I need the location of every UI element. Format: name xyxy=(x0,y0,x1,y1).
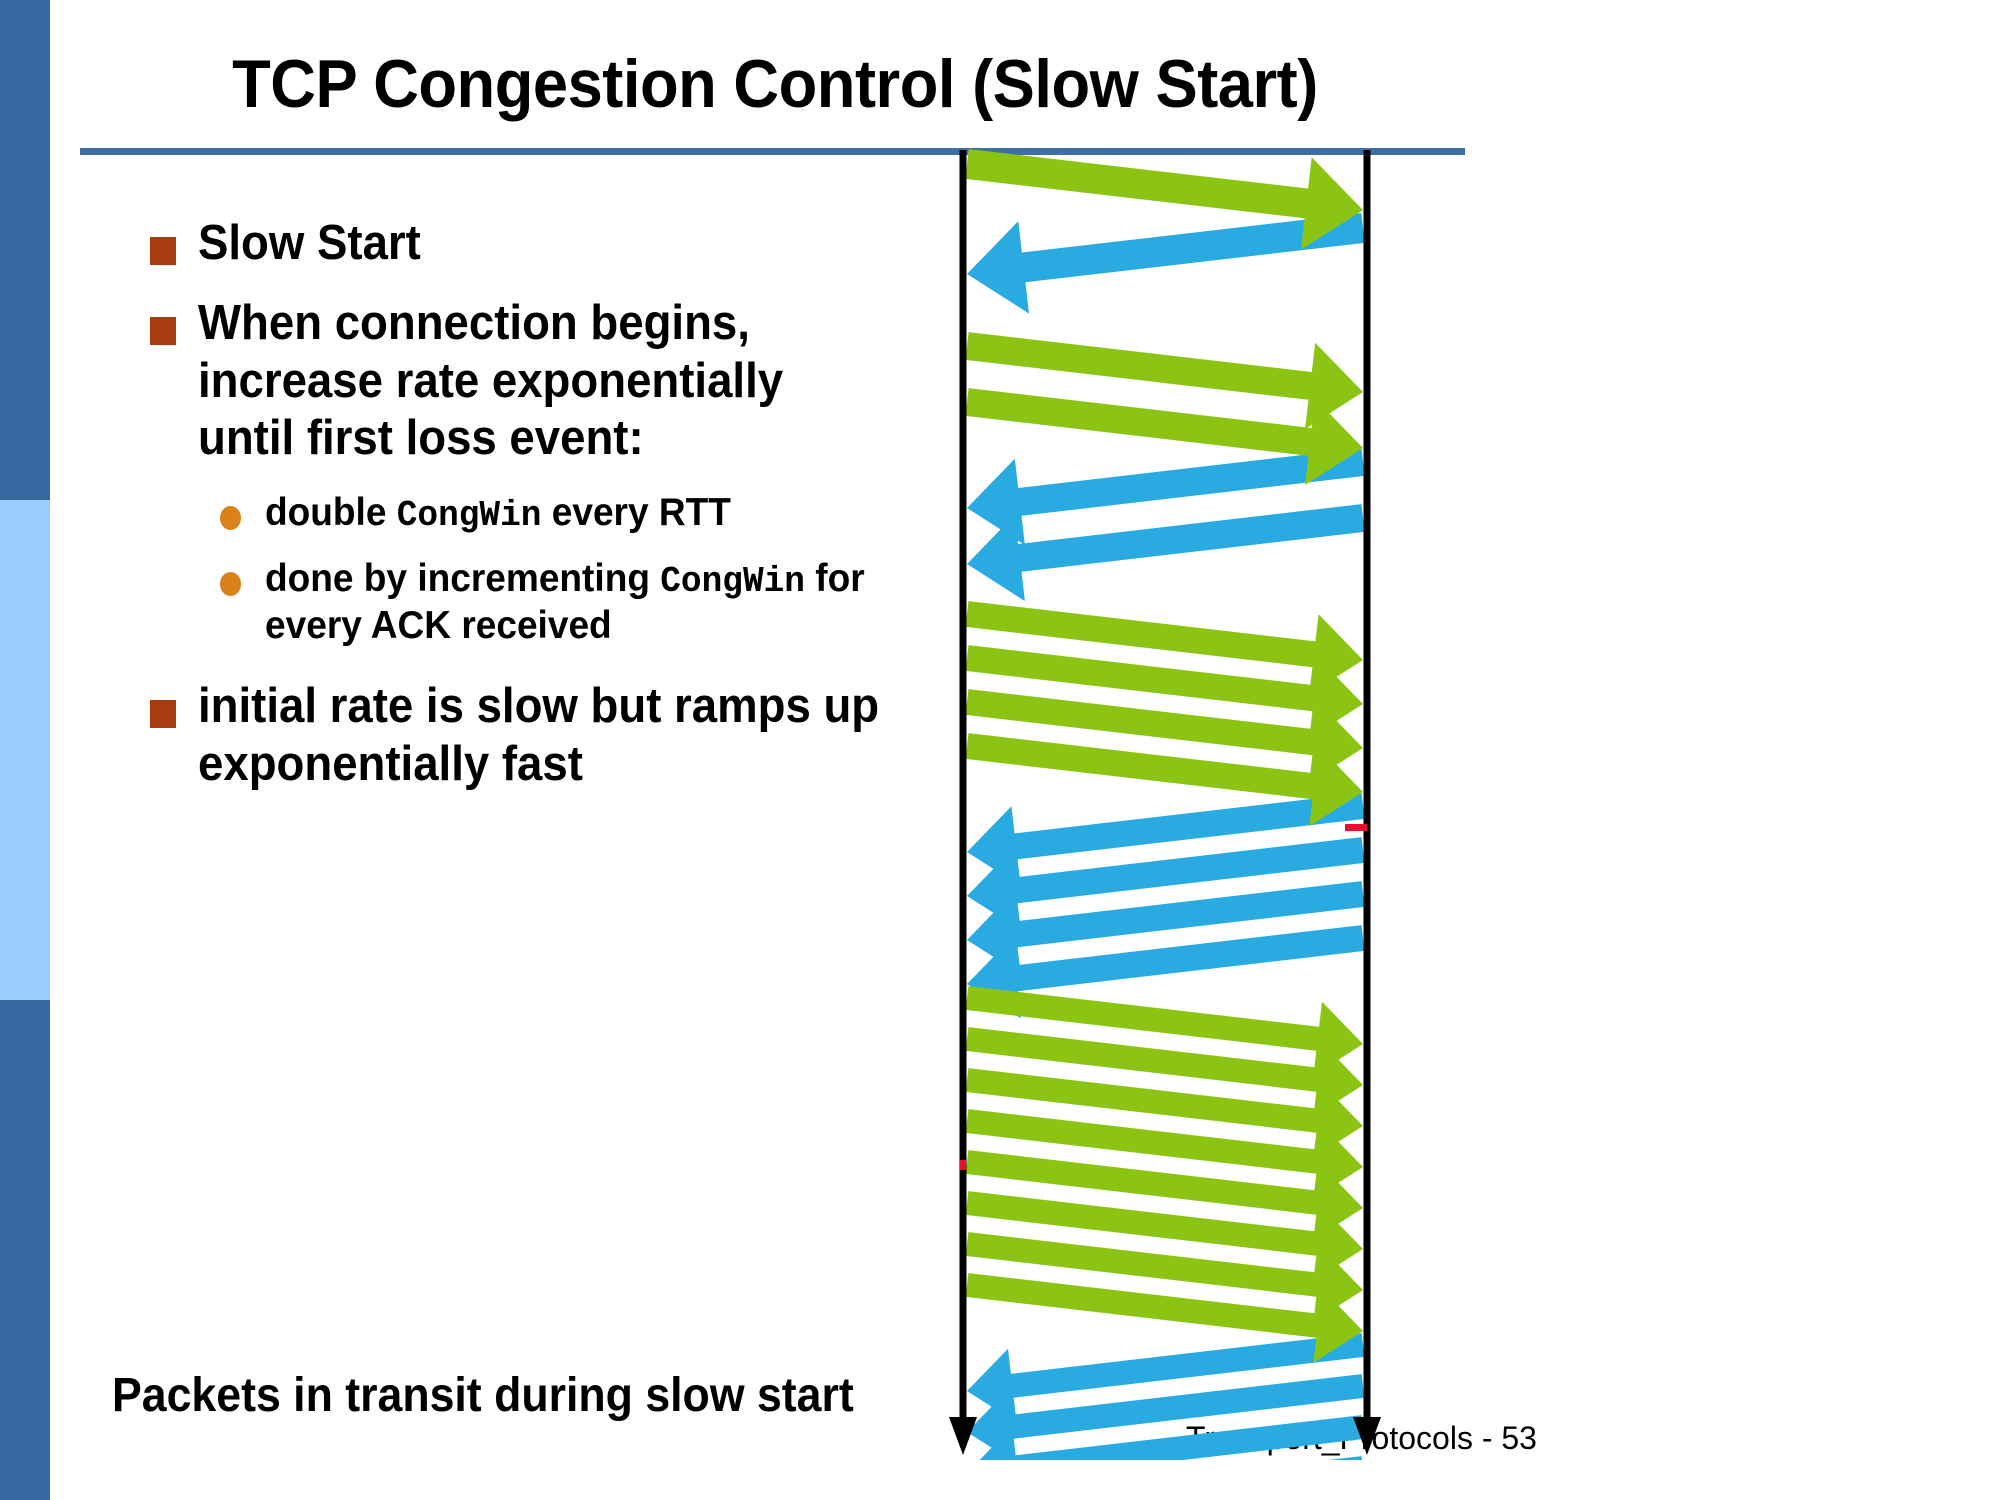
sub-bullet-double-congwin: double CongWin every RTT xyxy=(220,490,940,538)
sub-bullet-list: double CongWin every RTT done by increme… xyxy=(220,490,940,650)
diagram-caption: Packets in transit during slow start xyxy=(112,1368,854,1423)
packet-timeline-svg xyxy=(900,140,1460,1460)
code-congwin: CongWin xyxy=(660,561,805,602)
slow-start-diagram xyxy=(900,140,1460,1460)
square-bullet-icon xyxy=(150,700,176,728)
slide-sidebar-decoration xyxy=(0,0,50,1500)
sub-bullet-text: done by incrementing CongWin for every A… xyxy=(265,556,906,650)
bullet-item-initial-rate: initial rate is slow but ramps up expone… xyxy=(150,678,940,794)
round-bullet-icon xyxy=(220,506,241,530)
bullet-item-slow-start: Slow Start xyxy=(150,215,940,273)
sub-bullet-text-pre: double xyxy=(265,491,397,534)
bullet-item-when-connection-begins: When connection begins, increase rate ex… xyxy=(150,295,940,468)
sub-bullet-increment-congwin: done by incrementing CongWin for every A… xyxy=(220,556,940,650)
data-packet-arrow-r1-1 xyxy=(965,149,1363,250)
bullet-text: When connection begins, increase rate ex… xyxy=(198,295,888,468)
sidebar-segment-top xyxy=(0,0,50,500)
sidebar-segment-bottom xyxy=(0,1000,50,1500)
sidebar-segment-middle xyxy=(0,500,50,1000)
sub-bullet-text-post: every RTT xyxy=(541,491,730,534)
loss-marker-icon xyxy=(1345,824,1367,831)
bullet-list: Slow Start When connection begins, incre… xyxy=(150,215,940,816)
round-bullet-icon xyxy=(220,572,241,596)
sub-bullet-text-pre: done by incrementing xyxy=(265,557,660,600)
sub-bullet-text: double CongWin every RTT xyxy=(265,490,906,538)
ack-packet-arrow-r2-2 xyxy=(967,504,1365,601)
slide-title: TCP Congestion Control (Slow Start) xyxy=(129,45,1422,123)
bullet-text: Slow Start xyxy=(198,215,888,273)
loss-marker-icon-secondary xyxy=(960,1160,966,1170)
bullet-text: initial rate is slow but ramps up expone… xyxy=(198,678,888,794)
code-congwin: CongWin xyxy=(397,495,542,536)
square-bullet-icon xyxy=(150,317,176,345)
square-bullet-icon xyxy=(150,237,176,265)
